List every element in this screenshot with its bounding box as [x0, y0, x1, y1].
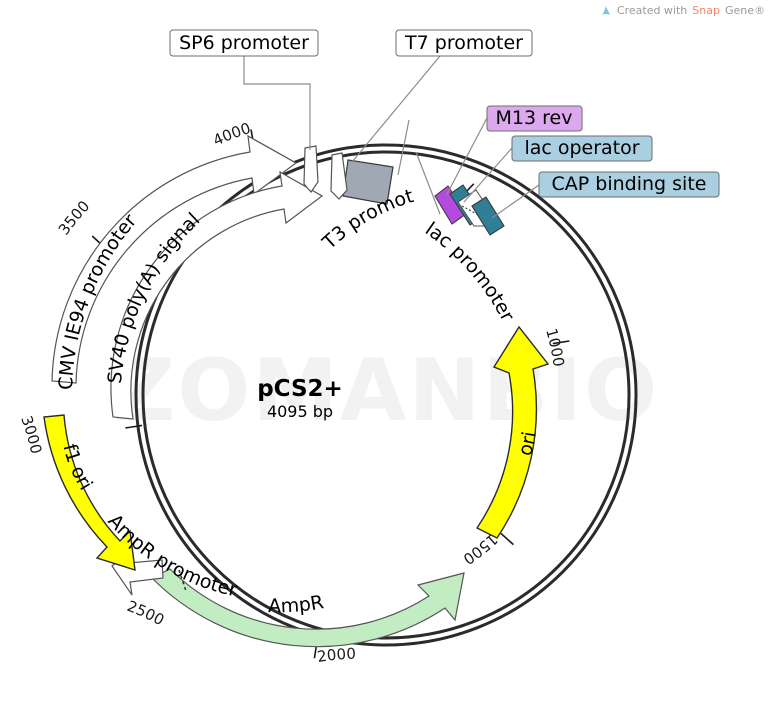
snapgene-credit: Created with Snap Gene®	[600, 4, 765, 17]
snapgene-credit-snap: Snap	[692, 4, 720, 17]
plasmid-name: pCS2+	[257, 376, 343, 402]
tick-label-3000: 3000	[17, 413, 45, 455]
zomanbio-watermark: ZOMANBIO	[113, 341, 659, 441]
boxed-label-lac-operator-text: lac operator	[524, 137, 639, 159]
snapgene-credit-prefix: Created with	[617, 4, 687, 17]
boxed-label-m13-rev-text: M13 rev	[496, 107, 573, 129]
plasmid-map-svg: ZOMANBIO 500 1000	[0, 0, 773, 712]
leader-line-m13-rev	[446, 118, 487, 196]
watermark-text: ZOMANBIO	[113, 341, 659, 441]
boxed-label-cap-binding-site-text: CAP binding site	[552, 173, 707, 195]
leader-line-lac-promoter-aux	[416, 152, 440, 214]
boxed-label-cap-binding-site[interactable]: CAP binding site	[539, 172, 719, 197]
tick-label-4000: 4000	[210, 119, 253, 150]
feature-sp6-promoter[interactable]	[304, 146, 318, 192]
leader-line-sp6-promoter	[244, 56, 310, 150]
boxed-label-m13-rev[interactable]: M13 rev	[487, 106, 582, 131]
tick-label-2500: 2500	[125, 597, 168, 629]
tick-mark-1500	[501, 533, 514, 544]
snapgene-credit-gene: Gene®	[725, 4, 765, 17]
plasmid-center-title: pCS2+ 4095 bp	[257, 376, 343, 421]
boxed-label-t7-promoter-text: T7 promoter	[404, 32, 523, 54]
boxed-label-sp6-promoter-text: SP6 promoter	[179, 32, 309, 54]
plasmid-map-canvas: ZOMANBIO 500 1000	[0, 0, 773, 712]
boxed-label-lac-operator[interactable]: lac operator	[512, 136, 652, 161]
snapgene-logo-icon	[600, 5, 612, 17]
curved-label-ampr: AmpR	[268, 591, 325, 617]
plasmid-size: 4095 bp	[267, 402, 333, 421]
curved-label-lac-promoter: lac promoter	[421, 218, 518, 325]
tick-label-3500: 3500	[55, 197, 94, 238]
curved-feature-labels: CMV IE94 promoter SV40 poly(A) signal T3…	[0, 0, 541, 617]
tick-label-2000: 2000	[316, 645, 356, 666]
boxed-label-t7-promoter[interactable]: T7 promoter	[396, 30, 532, 56]
feature-t3-promoter[interactable]	[331, 153, 347, 199]
boxed-label-sp6-promoter[interactable]: SP6 promoter	[170, 30, 318, 56]
leader-line-t7-aux	[398, 120, 409, 175]
